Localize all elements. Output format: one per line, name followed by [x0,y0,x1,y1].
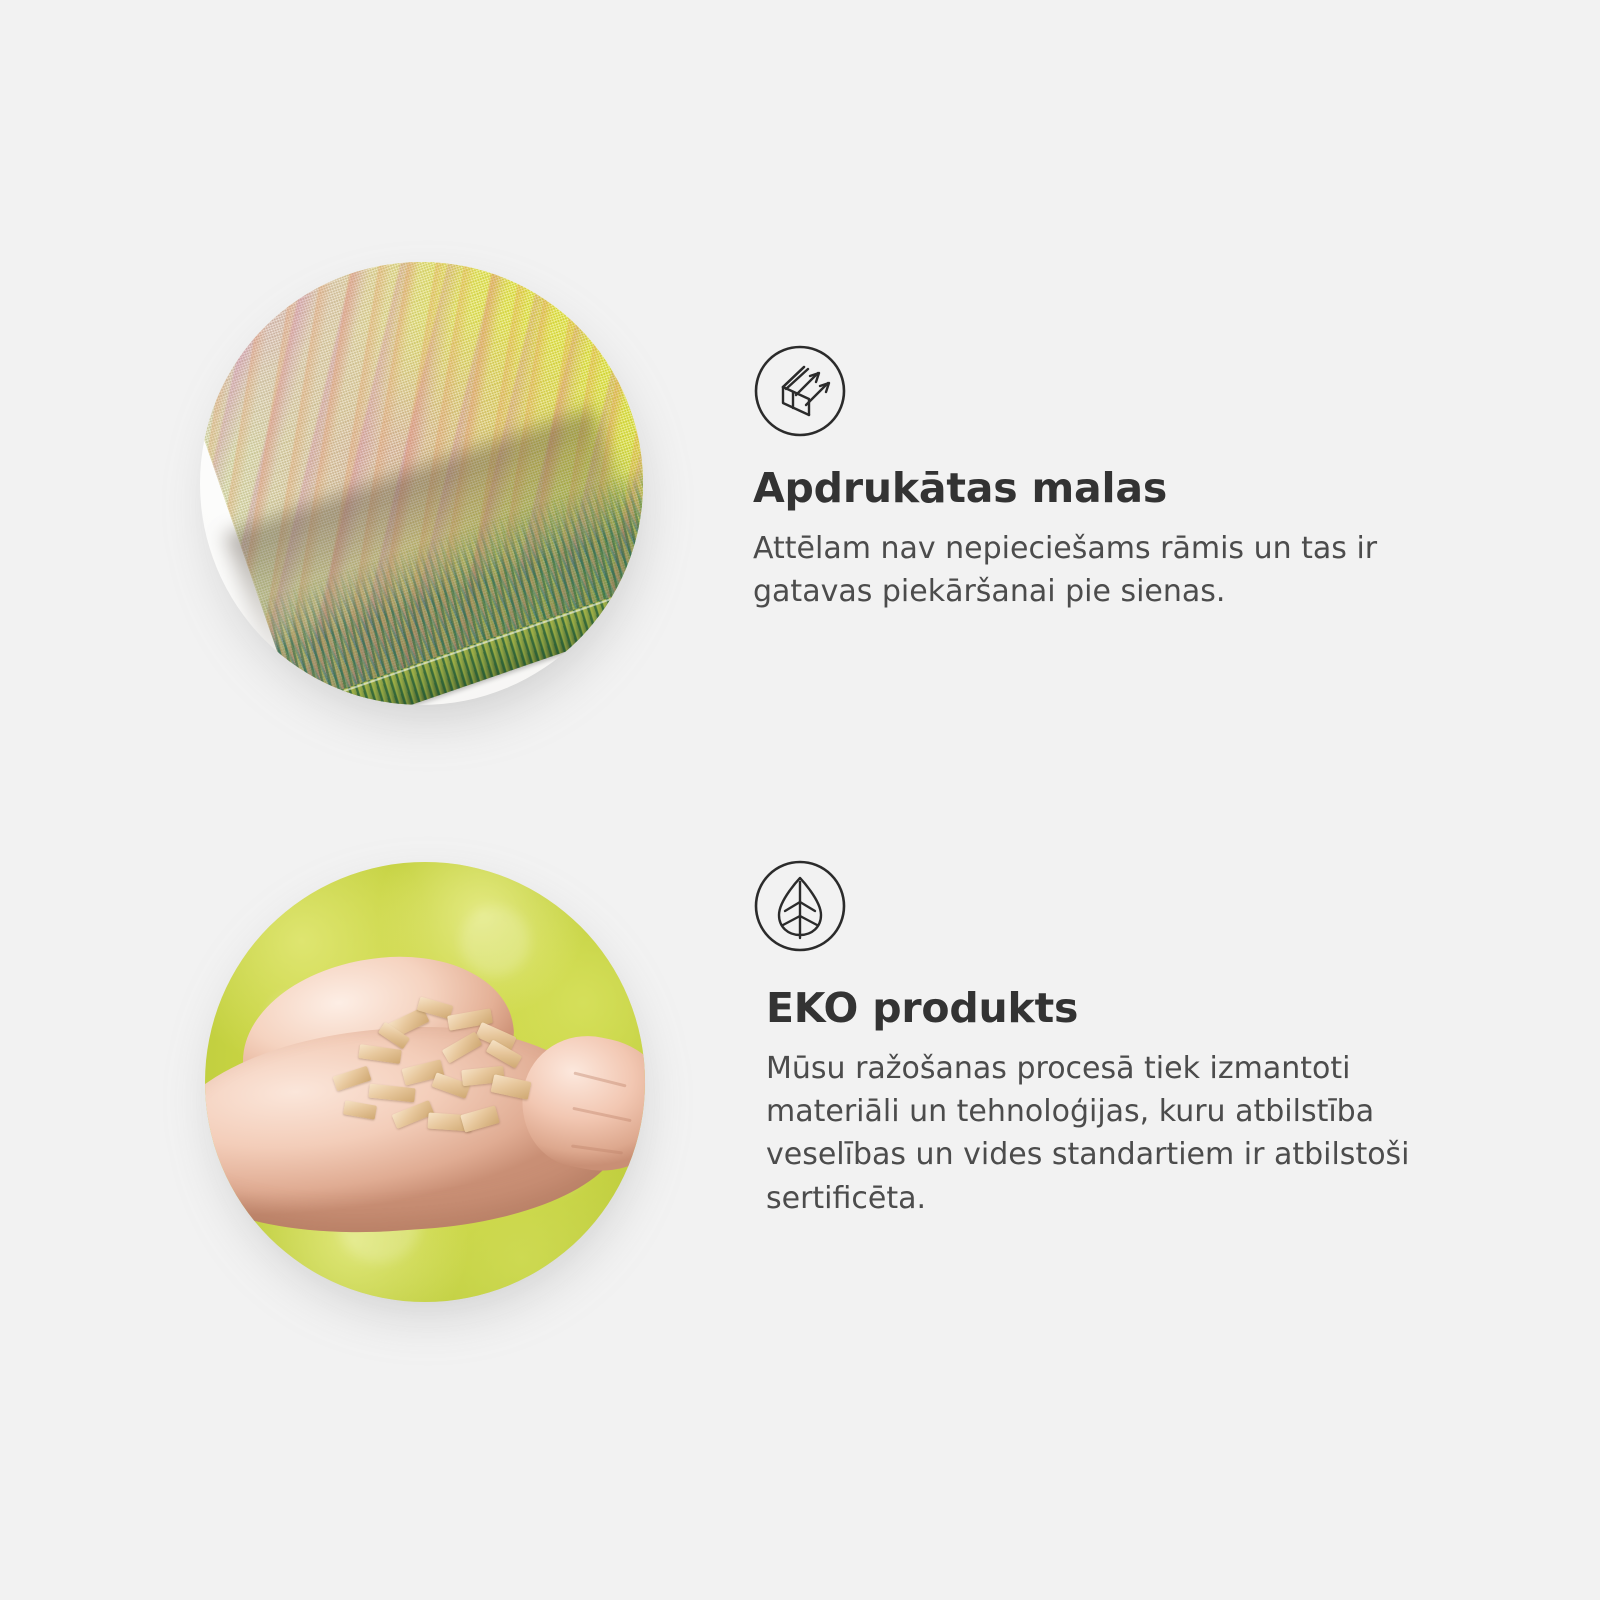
feature-description-printed-edges: Attēlam nav nepieciešams rāmis un tas ir… [753,527,1473,613]
eco-product-text-block: EKO produkts Mūsu ražošanas procesā tiek… [766,986,1486,1220]
wood-chips-pile [319,994,565,1170]
wood-chip [333,1066,372,1091]
printed-edges-text-block: Apdrukātas malas Attēlam nav nepieciešam… [753,466,1473,613]
canvas-print-corner-photo [200,262,643,705]
hands-holding-wood-chips-photo [205,862,645,1302]
eco-photo-circle [205,862,645,1302]
feature-description-eco-product: Mūsu ražošanas procesā tiek izmantoti ma… [766,1047,1486,1220]
wood-chip [368,1083,415,1102]
wood-chip [358,1044,402,1064]
feature-title-printed-edges: Apdrukātas malas [753,466,1473,511]
leaf-icon [752,858,848,954]
wood-chip [343,1100,377,1119]
feature-title-eco-product: EKO produkts [766,986,1486,1031]
wood-chip [490,1075,531,1101]
wood-chip [461,1106,501,1133]
feature-highlights-page: Apdrukātas malas Attēlam nav nepieciešam… [0,0,1600,1600]
canvas-wrapped-edge-icon [752,343,848,439]
wood-chip [441,1031,481,1063]
canvas-photo-circle [200,262,643,705]
bokeh-dot [460,906,530,976]
